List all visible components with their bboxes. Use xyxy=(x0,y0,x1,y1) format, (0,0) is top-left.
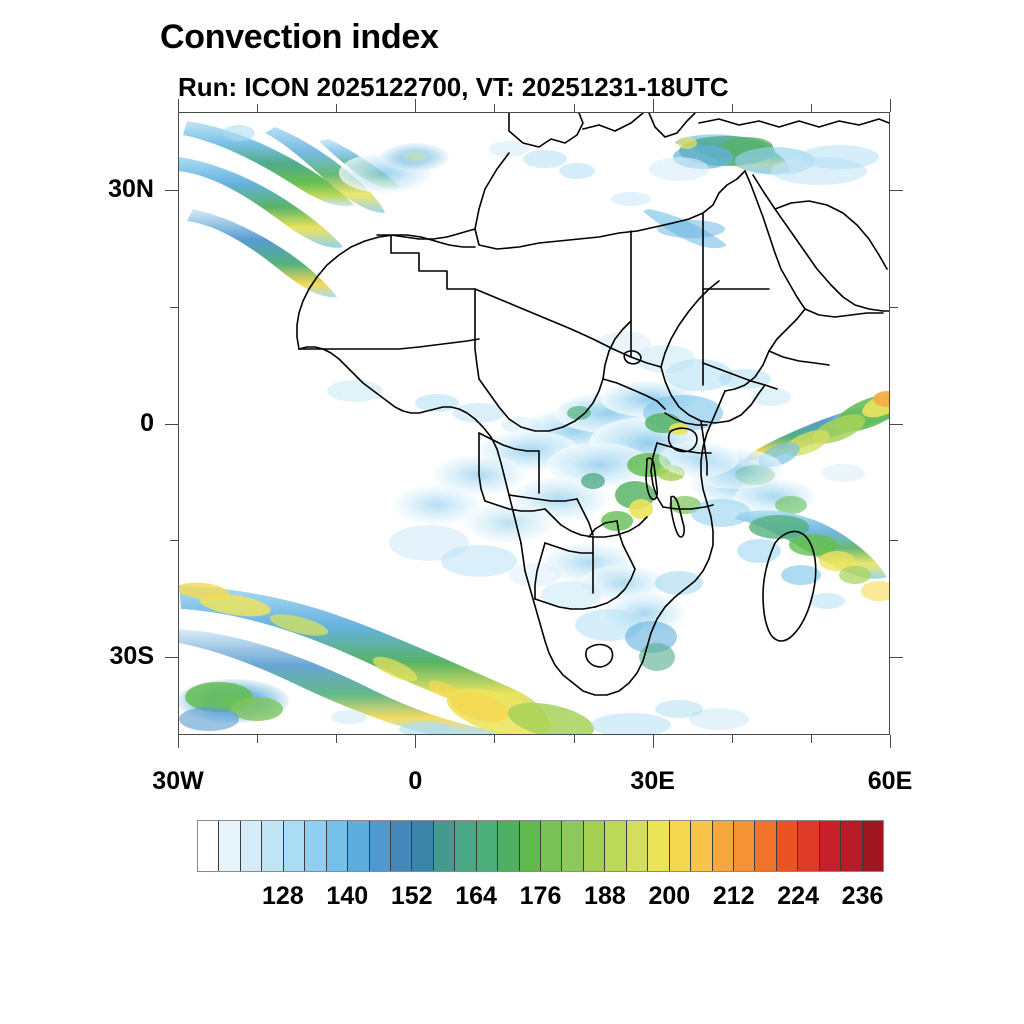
map-canvas xyxy=(179,113,889,734)
x-axis-label: 0 xyxy=(408,767,422,796)
colorbar-cell xyxy=(520,821,541,871)
colorbar-cell xyxy=(219,821,240,871)
colorbar-cell xyxy=(348,821,369,871)
x-tick-minor xyxy=(732,735,733,743)
y-axis-label: 30S xyxy=(84,642,154,671)
x-tick-major xyxy=(415,735,416,748)
run-valid-time-subtitle: Run: ICON 2025122700, VT: 20251231-18UTC xyxy=(178,72,729,103)
colorbar-cell xyxy=(434,821,455,871)
x-tick-minor xyxy=(811,735,812,743)
colorbar-cell xyxy=(648,821,669,871)
colorbar-cell xyxy=(284,821,305,871)
colorbar-cell xyxy=(820,821,841,871)
colorbar-cell xyxy=(691,821,712,871)
map-plot-area xyxy=(178,112,890,735)
colorbar-cell xyxy=(755,821,776,871)
colorbar-tick-label: 176 xyxy=(520,882,562,911)
y-tick-minor xyxy=(170,540,178,541)
y-tick-minor xyxy=(890,540,898,541)
y-tick-major xyxy=(890,657,903,658)
colorbar-tick-label: 152 xyxy=(391,882,433,911)
x-tick-minor xyxy=(574,104,575,112)
x-tick-major xyxy=(890,99,891,112)
colorbar-tick-label: 164 xyxy=(455,882,497,911)
colorbar-cell xyxy=(713,821,734,871)
x-tick-major xyxy=(415,99,416,112)
x-axis-label: 30E xyxy=(630,767,674,796)
colorbar-cell xyxy=(412,821,433,871)
x-tick-major xyxy=(890,735,891,748)
colorbar-cell xyxy=(327,821,348,871)
colorbar-cell xyxy=(370,821,391,871)
x-tick-major xyxy=(178,735,179,748)
colorbar-cell xyxy=(198,821,219,871)
x-tick-minor xyxy=(494,735,495,743)
x-axis-label: 60E xyxy=(868,767,912,796)
y-axis-label: 0 xyxy=(84,409,154,438)
colorbar-tick-labels: 128140152164176188200212224236 xyxy=(197,882,884,916)
x-tick-minor xyxy=(257,735,258,743)
x-tick-major xyxy=(653,735,654,748)
colorbar-cell xyxy=(262,821,283,871)
y-tick-minor xyxy=(170,307,178,308)
colorbar-cell xyxy=(627,821,648,871)
colorbar-cell xyxy=(541,821,562,871)
y-tick-major xyxy=(165,424,178,425)
x-axis-label: 30W xyxy=(152,767,203,796)
colorbar-cell xyxy=(305,821,326,871)
x-tick-major xyxy=(653,99,654,112)
convection-index-chart: Convection index Run: ICON 2025122700, V… xyxy=(0,0,1024,1024)
y-tick-major xyxy=(890,424,903,425)
x-tick-minor xyxy=(494,104,495,112)
colorbar-cell xyxy=(798,821,819,871)
x-tick-minor xyxy=(257,104,258,112)
page-title: Convection index xyxy=(160,18,439,57)
colorbar-tick-label: 200 xyxy=(648,882,690,911)
y-tick-minor xyxy=(890,307,898,308)
y-axis-label: 30N xyxy=(84,175,154,204)
colorbar-cell xyxy=(477,821,498,871)
colorbar-cell xyxy=(584,821,605,871)
y-tick-major xyxy=(165,657,178,658)
colorbar-tick-label: 140 xyxy=(326,882,368,911)
colorbar-cell xyxy=(391,821,412,871)
colorbar-cell xyxy=(562,821,583,871)
x-tick-minor xyxy=(811,104,812,112)
x-tick-minor xyxy=(336,735,337,743)
colorbar-cell xyxy=(241,821,262,871)
colorbar-cell xyxy=(777,821,798,871)
colorbar-cell xyxy=(670,821,691,871)
y-tick-major xyxy=(890,190,903,191)
colorbar-cell xyxy=(455,821,476,871)
colorbar-cell xyxy=(863,821,883,871)
x-tick-minor xyxy=(336,104,337,112)
colorbar-cell xyxy=(841,821,862,871)
colorbar-tick-label: 236 xyxy=(842,882,884,911)
colorbar-tick-label: 224 xyxy=(777,882,819,911)
x-tick-minor xyxy=(732,104,733,112)
y-tick-major xyxy=(165,190,178,191)
colorbar xyxy=(197,820,884,872)
colorbar-tick-label: 128 xyxy=(262,882,304,911)
x-tick-minor xyxy=(574,735,575,743)
colorbar-tick-label: 212 xyxy=(713,882,755,911)
colorbar-tick-label: 188 xyxy=(584,882,626,911)
colorbar-cell xyxy=(734,821,755,871)
colorbar-cell xyxy=(498,821,519,871)
colorbar-cell xyxy=(605,821,626,871)
x-tick-major xyxy=(178,99,179,112)
